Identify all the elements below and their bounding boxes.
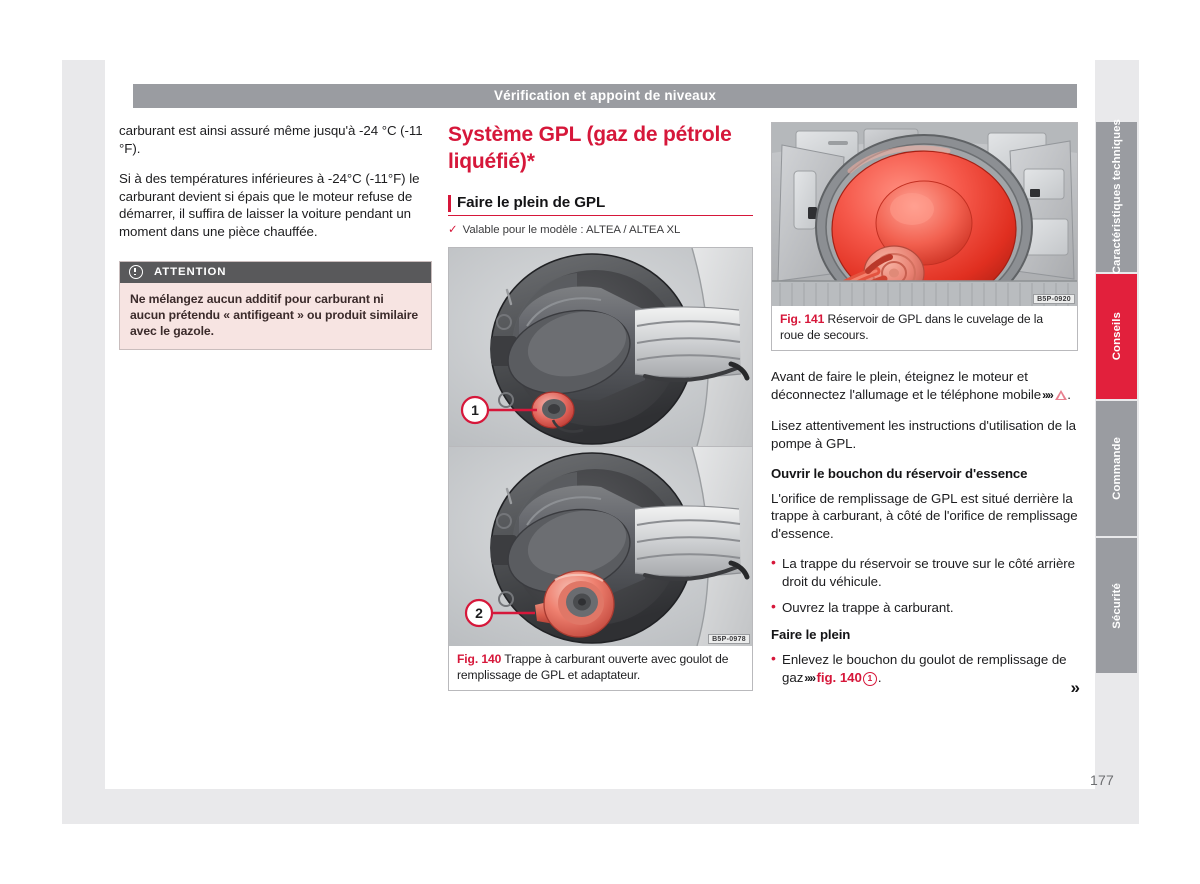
fuel-flap-lpg-port-illustration: 1 [449, 248, 752, 446]
figure-140-caption: Fig. 140 Trappe à carburant ouverte avec… [449, 646, 752, 690]
paragraph-cold-weather: Si à des températures inférieures à -24°… [119, 170, 433, 240]
warning-triangle-icon [1055, 390, 1067, 400]
svg-text:1: 1 [471, 402, 479, 418]
callout-badge-1: 1 [863, 672, 877, 686]
cross-reference-arrow-icon: »» [1041, 388, 1054, 402]
sidebar-tab-technical-specs[interactable]: Caractéristiques techniques [1096, 122, 1137, 272]
lpg-tank-spare-wheel-well-illustration [772, 123, 1077, 306]
page-number: 177 [1090, 772, 1136, 788]
bullet-list-fill-up: Enlevez le bouchon du goulot de rempliss… [771, 651, 1078, 687]
paragraph-before-filling: Avant de faire le plein, éteignez le mot… [771, 368, 1078, 404]
list-item: La trappe du réservoir se trouve sur le … [771, 555, 1078, 590]
check-icon: ✓ [448, 222, 458, 236]
warning-circle-icon [129, 265, 143, 279]
attention-header: ATTENTION [120, 262, 431, 283]
validity-note: ✓ Valable pour le modèle : ALTEA / ALTEA… [448, 222, 753, 236]
figure-140-lower-image: 2 B5P-0978 [449, 446, 752, 646]
continued-arrow-icon: » [1071, 678, 1077, 698]
sidebar-tab-safety[interactable]: Sécurité [1096, 538, 1137, 673]
attention-body: Ne mélangez aucun additif pour carburant… [120, 283, 431, 350]
figure-140-number: Fig. 140 [457, 652, 501, 666]
attention-label: ATTENTION [154, 266, 226, 278]
paragraph-read-instructions: Lisez attentivement les instructions d'u… [771, 417, 1078, 452]
figure-141-image-code: B5P-0920 [1033, 294, 1075, 304]
sidebar-tab-tips[interactable]: Conseils [1096, 274, 1137, 399]
running-header-title: Vérification et appoint de niveaux [133, 84, 1077, 108]
figure-140-upper-image: 1 [449, 248, 752, 446]
figure-cross-reference-link[interactable]: fig. 140 [816, 670, 861, 685]
document-page-viewport: Vérification et appoint de niveaux carbu… [0, 0, 1200, 884]
figure-140: 1 [448, 247, 753, 691]
fuel-flap-lpg-adapter-illustration: 2 [449, 447, 752, 646]
right-column: B5P-0920 Fig. 141 Réservoir de GPL dans … [771, 122, 1078, 698]
bullet-list-open-flap: La trappe du réservoir se trouve sur le … [771, 555, 1078, 616]
sidebar-tab-label: Commande [1111, 437, 1123, 500]
validity-text: Valable pour le modèle : ALTEA / ALTEA X… [463, 224, 681, 236]
sidebar-tab-operation[interactable]: Commande [1096, 401, 1137, 536]
left-column: carburant est ainsi assuré même jusqu'à … [119, 122, 433, 350]
figure-141-caption: Fig. 141 Réservoir de GPL dans le cuvela… [772, 306, 1077, 350]
figure-141: B5P-0920 Fig. 141 Réservoir de GPL dans … [771, 122, 1078, 351]
paragraph-before-filling-suffix: . [1067, 387, 1071, 402]
svg-text:2: 2 [475, 605, 483, 621]
figure-140-image-code: B5P-0978 [708, 634, 750, 644]
paragraph-before-filling-text: Avant de faire le plein, éteignez le mot… [771, 369, 1041, 402]
page-title: Système GPL (gaz de pétrole liquéfié)* [448, 122, 753, 175]
cross-reference-arrow-icon: »» [803, 671, 816, 685]
sidebar-tab-label: Conseils [1111, 312, 1123, 360]
figure-141-image: B5P-0920 [772, 123, 1077, 306]
figure-141-number: Fig. 141 [780, 312, 824, 326]
paragraph-continuation: carburant est ainsi assuré même jusqu'à … [119, 122, 433, 157]
sub-heading: Faire le plein de GPL [457, 194, 753, 211]
list-item: Enlevez le bouchon du goulot de rempliss… [771, 651, 1078, 687]
bullet-fill-suffix: . [878, 670, 882, 685]
running-header: Vérification et appoint de niveaux [133, 84, 1077, 108]
attention-text: Ne mélangez aucun additif pour carburant… [130, 291, 421, 340]
heading-open-fuel-cap: Ouvrir le bouchon du réservoir d'essence [771, 466, 1078, 481]
paragraph-filler-location: L'orifice de remplissage de GPL est situ… [771, 490, 1078, 543]
sidebar-tab-label: Caractéristiques techniques [1111, 119, 1123, 274]
sub-heading-block: Faire le plein de GPL [448, 194, 753, 216]
middle-column: Système GPL (gaz de pétrole liquéfié)* F… [448, 122, 753, 691]
thumb-index: Caractéristiques techniques Conseils Com… [1096, 122, 1137, 675]
list-item: Ouvrez la trappe à carburant. [771, 599, 1078, 617]
heading-fill-up: Faire le plein [771, 627, 1078, 642]
attention-callout-box: ATTENTION Ne mélangez aucun additif pour… [119, 261, 432, 351]
sidebar-tab-label: Sécurité [1111, 583, 1123, 629]
